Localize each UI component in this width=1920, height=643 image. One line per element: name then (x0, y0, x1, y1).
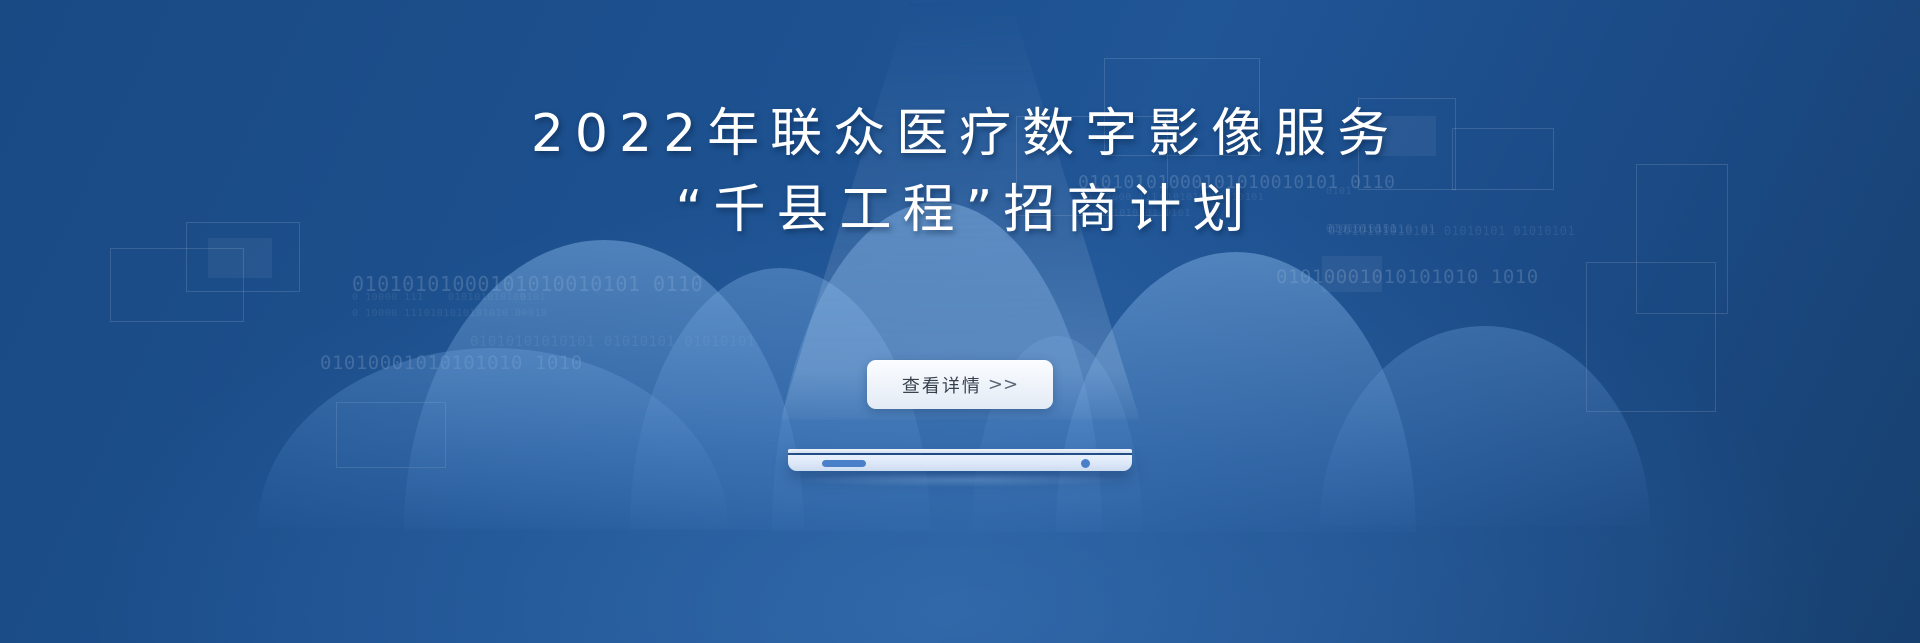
title-line-1: 2022年联众医疗数字影像服务 (0, 96, 1920, 172)
chevron-right-double-icon: >> (988, 374, 1018, 395)
view-details-button[interactable]: 查看详情 >> (867, 360, 1053, 409)
view-details-label: 查看详情 (902, 372, 982, 398)
laptop-indicator-dot-icon (1081, 459, 1090, 468)
banner-title: 2022年联众医疗数字影像服务 “千县工程”招商计划 (0, 96, 1920, 248)
laptop-shadow (795, 473, 1125, 487)
promo-banner: 01010101000101010010101 0110 0 10000 111… (0, 0, 1920, 643)
laptop-touchbar-icon (822, 460, 866, 467)
title-line-2: “千县工程”招商计划 (0, 172, 1920, 248)
laptop-illustration (788, 449, 1132, 471)
cta-container: 查看详情 >> (0, 360, 1920, 409)
laptop-base (788, 455, 1132, 471)
